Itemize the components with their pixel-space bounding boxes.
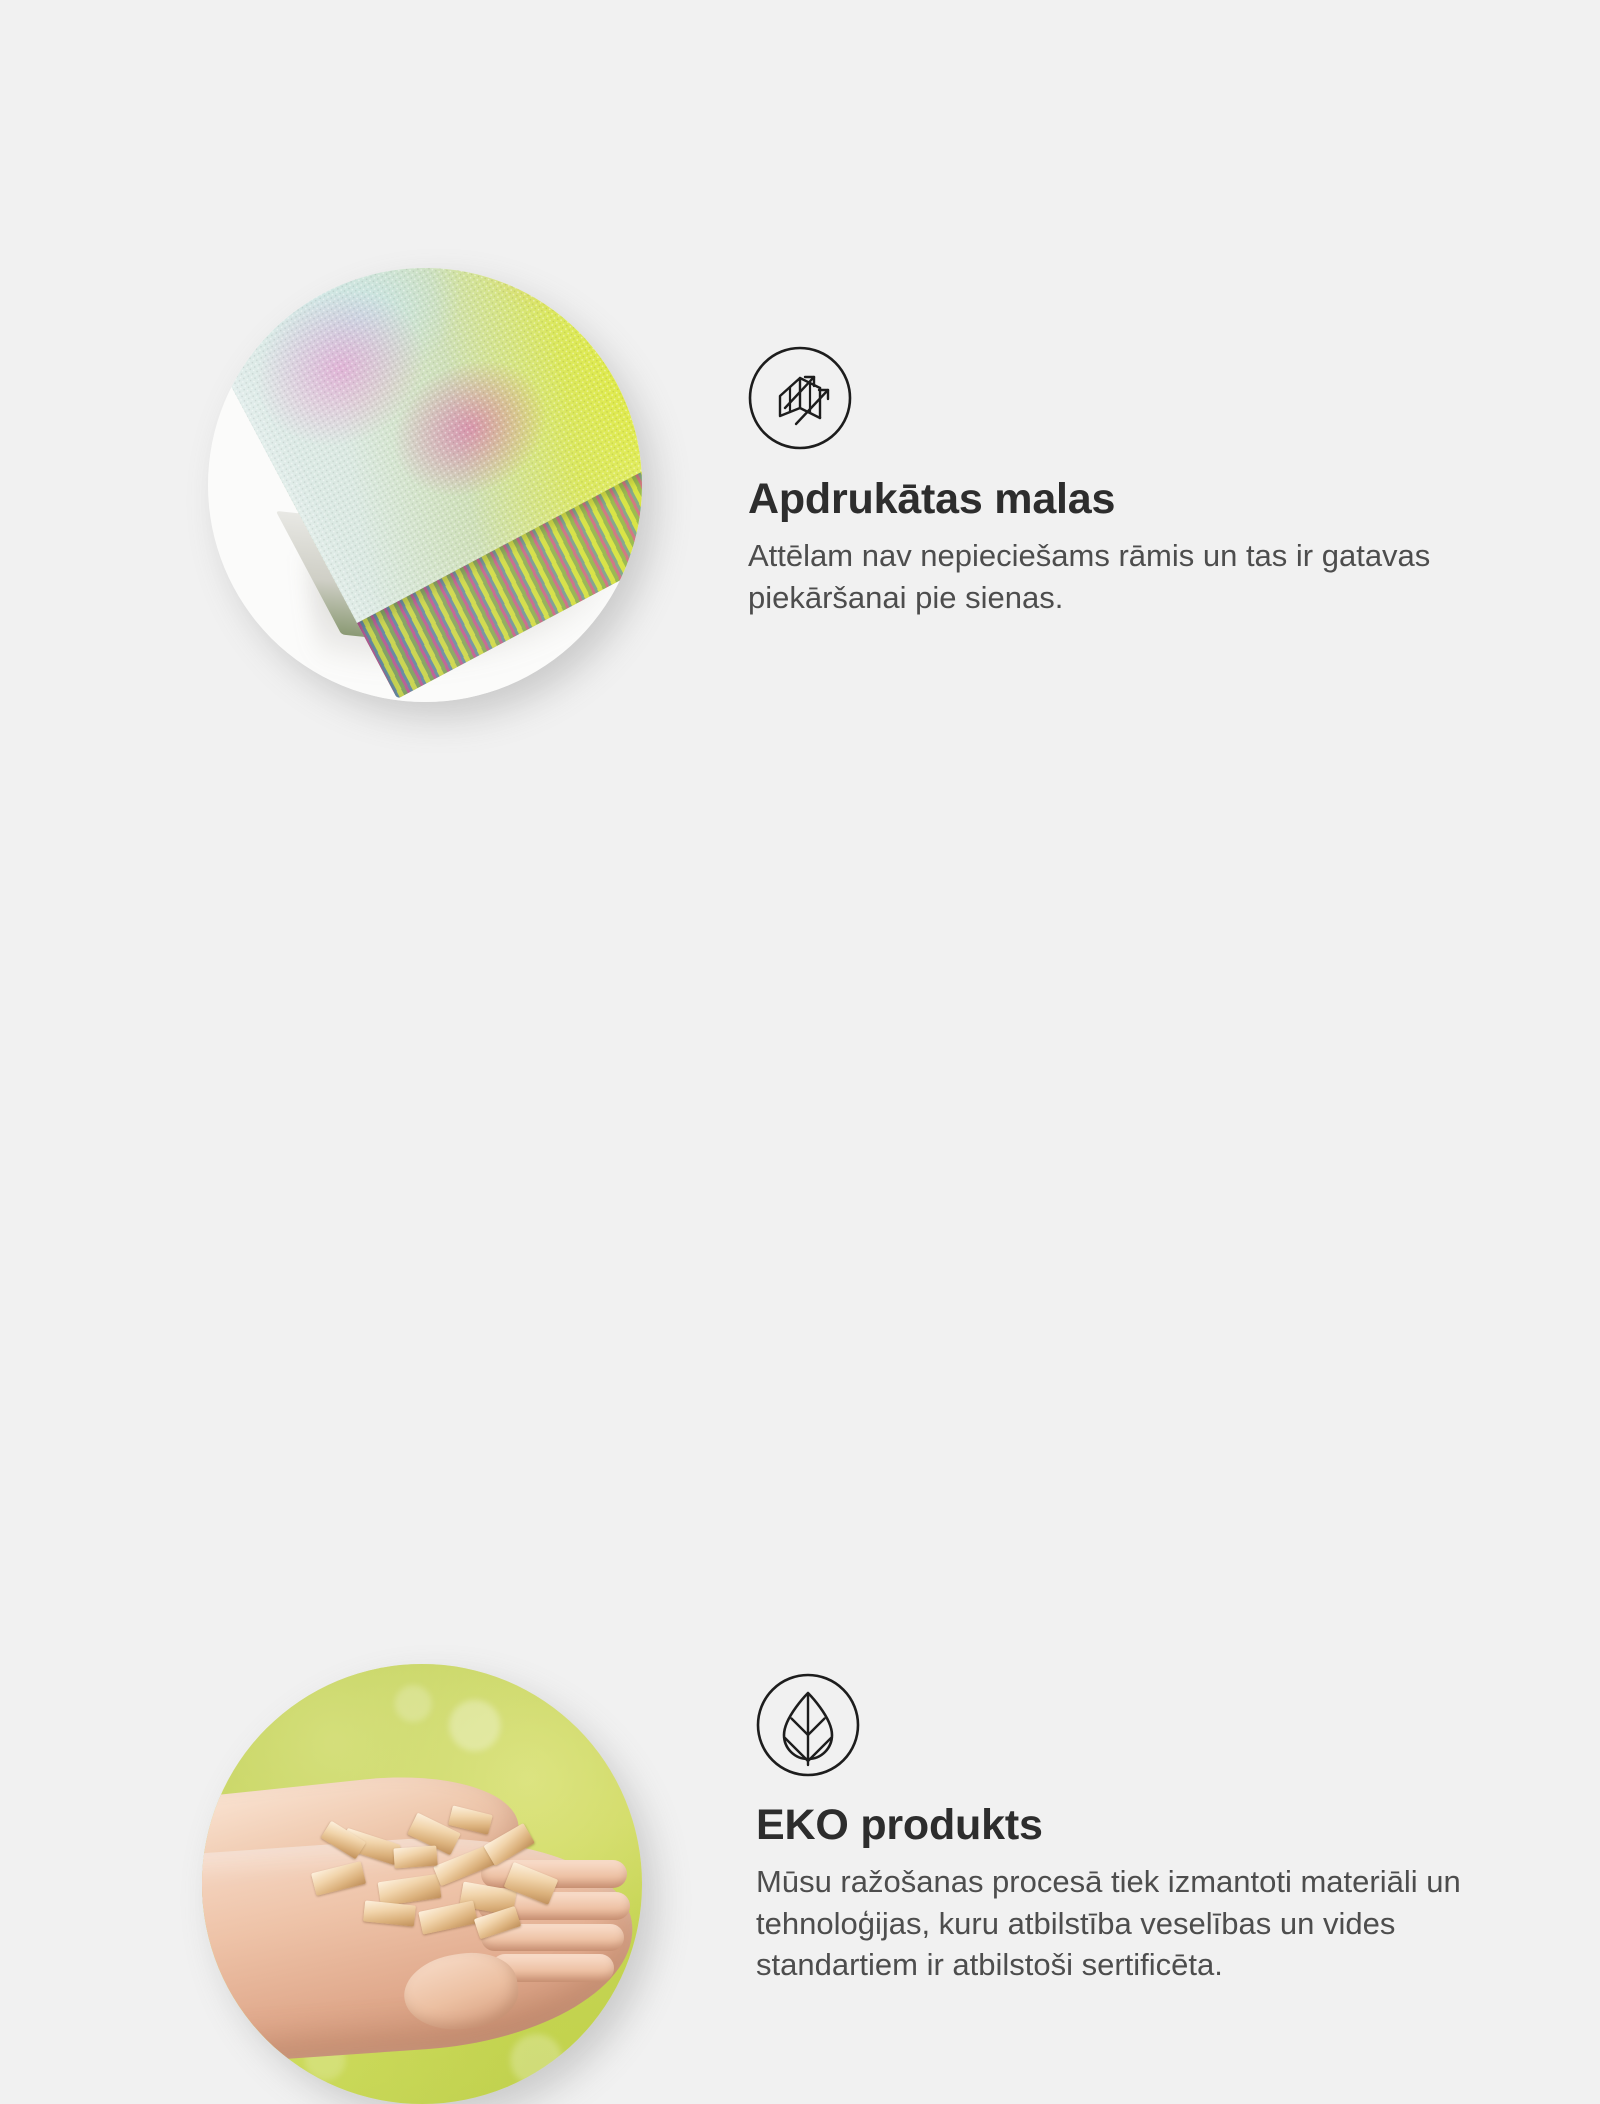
leaf-icon <box>756 1673 860 1777</box>
feature-description: Mūsu ražošanas procesā tiek izmantoti ma… <box>756 1848 1486 1985</box>
feature-title: EKO produkts <box>756 1777 1496 1848</box>
feature-title: Apdrukātas malas <box>748 450 1488 522</box>
product-features-page: Apdrukātas malas Attēlam nav nepieciešam… <box>0 0 1600 1600</box>
wood-chips <box>308 1805 563 1946</box>
feature-block-eco-product: EKO produkts Mūsu ražošanas procesā tiek… <box>0 800 1600 1600</box>
feature-text-eco-product: EKO produkts Mūsu ražošanas procesā tiek… <box>756 1673 1496 1985</box>
canvas-corner-object <box>208 268 642 702</box>
canvas-corner-photo-circle <box>208 268 642 702</box>
feature-description: Attēlam nav nepieciešams rāmis un tas ir… <box>748 522 1468 617</box>
eco-wood-chips-photo-circle <box>202 1664 642 2104</box>
canvas-corner-photo <box>208 268 642 702</box>
printed-edges-icon <box>748 346 852 450</box>
eco-wood-chips-photo <box>202 1664 642 2104</box>
feature-block-printed-edges: Apdrukātas malas Attēlam nav nepieciešam… <box>0 0 1600 800</box>
feature-text-printed-edges: Apdrukātas malas Attēlam nav nepieciešam… <box>748 346 1488 618</box>
